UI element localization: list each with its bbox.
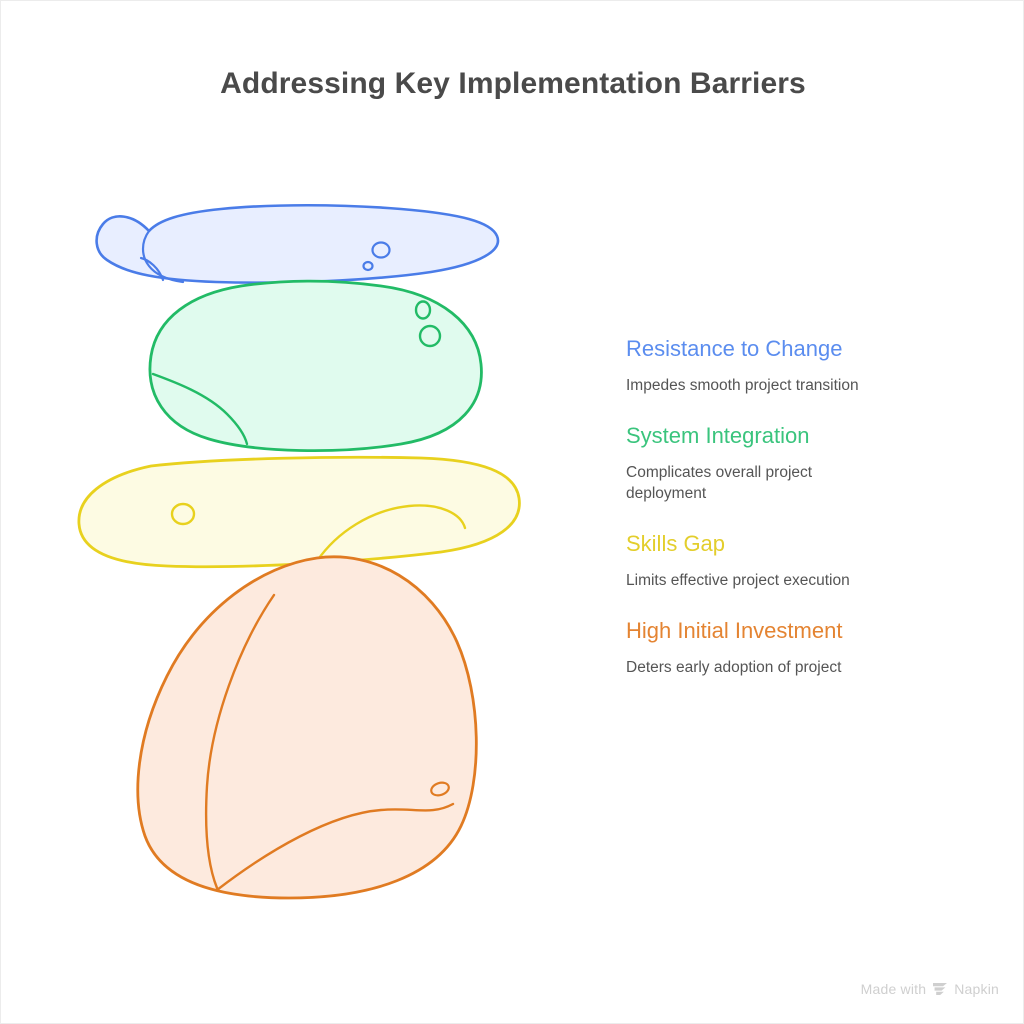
napkin-logo-icon: [932, 982, 948, 996]
rock-blue-body: [97, 205, 498, 282]
legend-item-description: Complicates overall project deployment: [626, 462, 884, 504]
legend-item-description: Limits effective project execution: [626, 570, 946, 591]
rock-system-integration[interactable]: [150, 281, 481, 451]
stacked-rocks-illustration: [41, 176, 581, 916]
legend-item-resistance-to-change[interactable]: Resistance to Change Impedes smooth proj…: [626, 335, 966, 396]
legend-item-system-integration[interactable]: System Integration Complicates overall p…: [626, 422, 966, 504]
page-title: Addressing Key Implementation Barriers: [1, 67, 1024, 101]
legend-item-skills-gap[interactable]: Skills Gap Limits effective project exec…: [626, 530, 966, 591]
barriers-legend: Resistance to Change Impedes smooth proj…: [626, 335, 966, 678]
rock-yellow-body: [79, 457, 520, 566]
rock-skills-gap[interactable]: [79, 457, 520, 566]
legend-item-high-initial-investment[interactable]: High Initial Investment Deters early ado…: [626, 617, 966, 678]
watermark-prefix: Made with: [861, 981, 927, 997]
legend-item-description: Impedes smooth project transition: [626, 375, 946, 396]
legend-item-description: Deters early adoption of project: [626, 657, 946, 678]
rock-orange-body: [138, 557, 477, 898]
watermark-brand: Napkin: [954, 981, 999, 997]
legend-item-title: High Initial Investment: [626, 617, 966, 645]
legend-item-title: Skills Gap: [626, 530, 966, 558]
rock-high-initial-investment[interactable]: [138, 557, 477, 898]
rock-resistance-to-change[interactable]: [97, 205, 498, 282]
rock-green-body: [150, 281, 481, 451]
napkin-watermark[interactable]: Made with Napkin: [861, 981, 999, 997]
legend-item-title: System Integration: [626, 422, 966, 450]
legend-item-title: Resistance to Change: [626, 335, 966, 363]
diagram-page: Addressing Key Implementation Barriers: [0, 0, 1024, 1024]
